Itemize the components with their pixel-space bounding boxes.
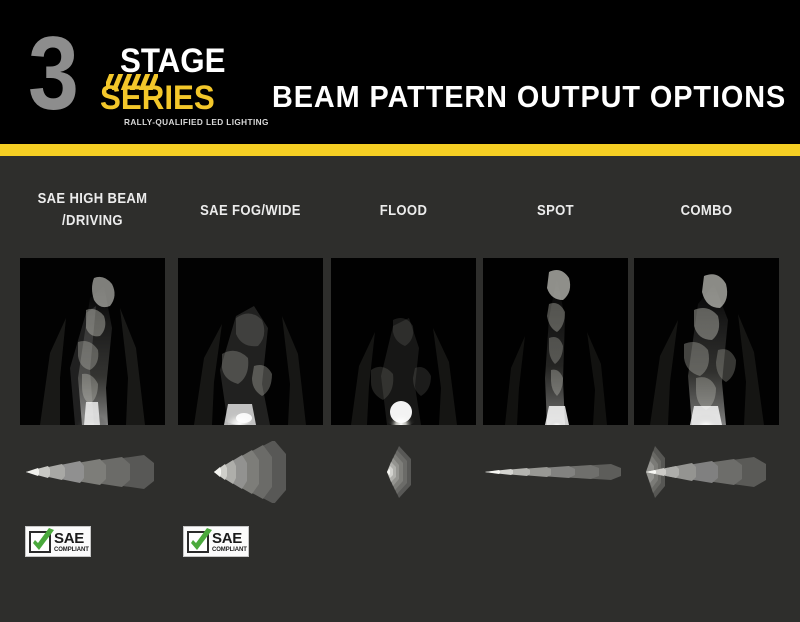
logo-word-series: SERIES [100,81,215,115]
beam-photo-spot [483,258,628,425]
logo-tagline: RALLY-QUALIFIED LED LIGHTING [124,118,269,127]
badge-text: SAE COMPLIANT [54,531,89,553]
badge-sae-label: SAE [54,531,89,546]
beam-photo-fog-wide [178,258,323,425]
badge-compliant-label: COMPLIANT [212,547,247,553]
column-flood: FLOOD [331,156,476,622]
beam-diagram-driving [20,441,165,503]
checkbox-icon [187,531,209,553]
sae-compliant-badge: SAE COMPLIANT [25,526,91,557]
beam-diagram-spot [483,441,628,503]
column-label: COMBO [629,200,785,222]
beam-columns: SAE HIGH BEAM /DRIVING [0,156,800,622]
column-sae-high-beam-driving: SAE HIGH BEAM /DRIVING [20,156,165,622]
beam-photo-flood [331,258,476,425]
page-title: BEAM PATTERN OUTPUT OPTIONS [272,80,786,114]
column-spot: SPOT [483,156,628,622]
beam-diagram-combo [634,441,779,503]
column-label: SAE FOG/WIDE [173,200,329,222]
beam-diagram-flood [331,441,476,503]
header-banner: 3 STAGE SERIES RALLY-QUALIFIED LED LIGHT… [0,0,800,144]
header-divider-bar [0,144,800,156]
checkbox-icon [29,531,51,553]
beam-photo-driving [20,258,165,425]
beam-diagram-fog-wide [178,441,323,503]
column-label: SAE HIGH BEAM /DRIVING [15,188,171,232]
logo-word-stage: STAGE [120,44,225,78]
column-label: SPOT [478,200,634,222]
brand-logo: 3 STAGE SERIES RALLY-QUALIFIED LED LIGHT… [28,26,243,131]
badge-text: SAE COMPLIANT [212,531,247,553]
column-sae-fog-wide: SAE FOG/WIDE [178,156,323,622]
column-label: FLOOD [326,200,482,222]
beam-pattern-infographic: 3 STAGE SERIES RALLY-QUALIFIED LED LIGHT… [0,0,800,622]
column-combo: COMBO [634,156,779,622]
logo-numeral: 3 [28,22,76,126]
badge-sae-label: SAE [212,531,247,546]
sae-compliant-badge: SAE COMPLIANT [183,526,249,557]
badge-compliant-label: COMPLIANT [54,547,89,553]
beam-photo-combo [634,258,779,425]
